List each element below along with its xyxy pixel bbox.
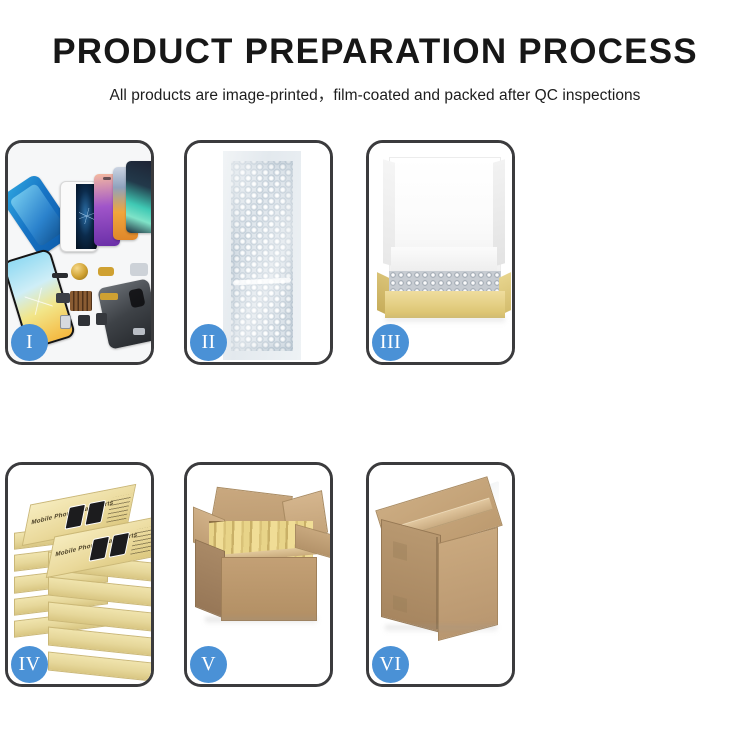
coil-part-graphic [71,263,88,280]
carton-side-left [381,519,441,633]
spare-part-graphic [130,263,148,276]
step-badge-6: VI [372,646,409,683]
step-badge-3: III [372,324,409,361]
spare-part-graphic [133,328,145,335]
process-step-6[interactable]: VI [366,462,515,687]
header: PRODUCT PREPARATION PROCESS All products… [0,0,750,105]
tray-front-panel [385,291,505,318]
tray-shadow [385,317,505,324]
carton-shadow [205,617,317,625]
spare-part-graphic [78,315,90,326]
process-step-1[interactable]: I [5,140,154,365]
process-step-5[interactable]: V [184,462,333,687]
spare-part-graphic [60,315,71,329]
process-step-grid: I II [0,138,750,688]
retail-box-spec-lines [130,526,151,555]
page-title: PRODUCT PREPARATION PROCESS [0,0,750,71]
carton-tab-mark [393,541,407,561]
retail-box-window [88,536,110,562]
chip-part-graphic [70,291,92,311]
step-badge-1: I [11,324,48,361]
spare-part-graphic [52,273,68,278]
retail-box-window [64,504,86,530]
process-step-2[interactable]: II [184,140,333,365]
bubble-contents-graphic [389,271,501,293]
bubble-film-sheet [223,151,301,360]
retail-box-slab [48,627,151,657]
page-subtitle: All products are image-printed，film-coat… [0,71,750,105]
step-badge-2: II [190,324,227,361]
step-badge-4: IV [11,646,48,683]
carton-shadow [385,625,497,633]
carton-front-panel [221,557,317,621]
carton-corner-seam [436,537,438,629]
process-row-bottom: Mobile Phone Spare Parts Mobile Phone Sp… [0,460,750,688]
retail-box-slab [48,652,151,682]
process-step-4[interactable]: Mobile Phone Spare Parts Mobile Phone Sp… [5,462,154,687]
spare-part-graphic [100,293,118,300]
carton-side-right [438,527,498,641]
cracked-screen-graphic [60,181,98,252]
retail-box-window [108,532,130,558]
process-row-top: I II [0,138,750,366]
process-step-3[interactable]: III [366,140,515,365]
foam-sheet-graphic [391,247,497,273]
step-badge-5: V [190,646,227,683]
retail-box-window [84,500,106,526]
teal-phone-graphic [126,161,151,233]
bubble-film-texture [231,161,293,351]
product-preparation-process-page: PRODUCT PREPARATION PROCESS All products… [0,0,750,750]
spare-part-graphic [98,267,114,276]
retail-box-spec-lines [106,494,131,523]
spare-part-graphic [96,313,107,325]
spare-part-graphic [56,293,70,303]
